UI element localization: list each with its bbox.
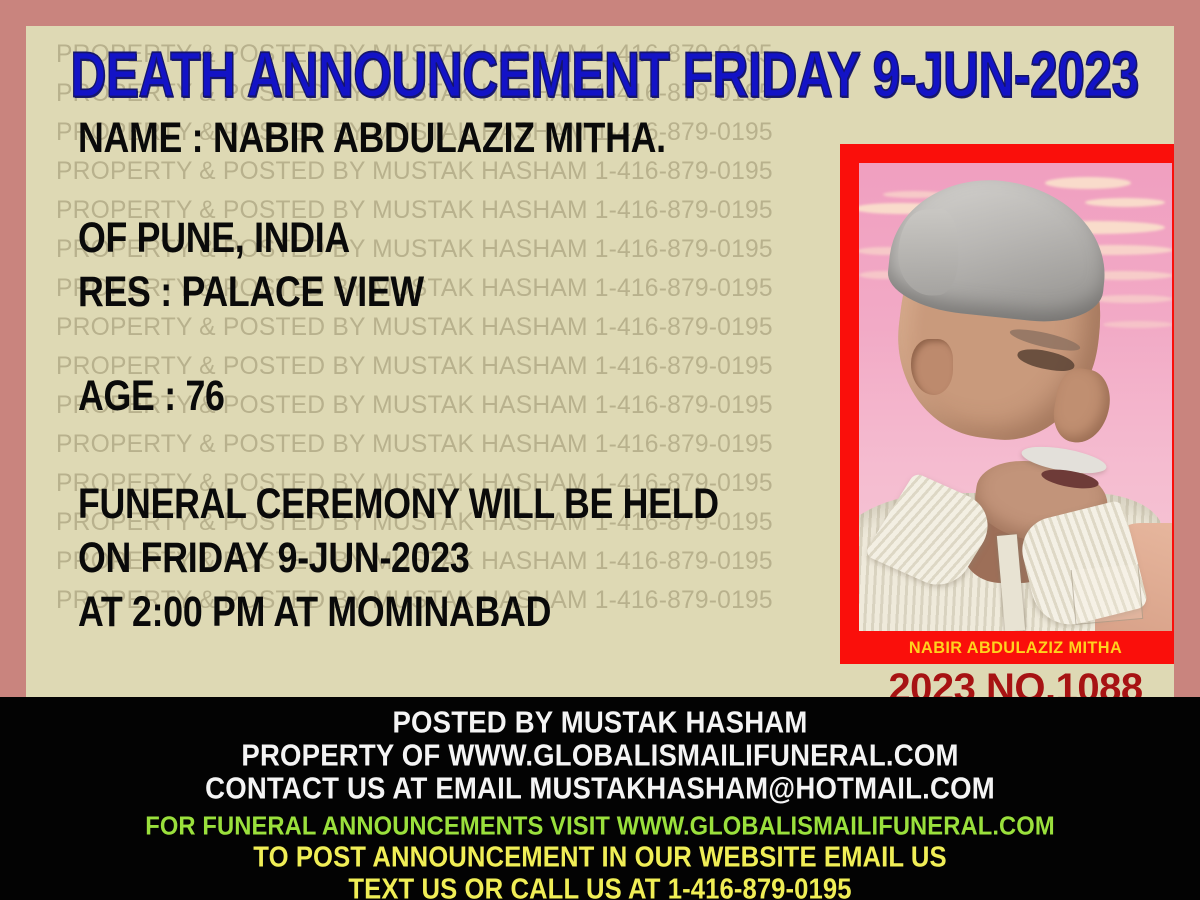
footer-property-of: PROPERTY OF WWW.GLOBALISMAILIFUNERAL.COM <box>30 739 1170 774</box>
detail-name: NAME : NABIR ABDULAZIZ MITHA. <box>78 114 792 163</box>
ear <box>911 339 953 395</box>
footer-call-us: TEXT US OR CALL US AT 1-416-879-0195 <box>30 872 1170 900</box>
cloud-icon <box>1045 177 1131 189</box>
spacer <box>78 158 838 214</box>
details-block: NAME : NABIR ABDULAZIZ MITHA. OF PUNE, I… <box>78 114 838 632</box>
portrait-caption: NABIR ABDULAZIZ MITHA <box>847 638 1174 658</box>
ceremony-line-1: FUNERAL CEREMONY WILL BE HELD <box>78 480 792 529</box>
cloud-icon <box>1091 295 1172 303</box>
death-announcement-poster: PROPERTY & POSTED BY MUSTAK HASHAM 1-416… <box>0 0 1200 900</box>
ceremony-line-3: AT 2:00 PM AT MOMINABAD <box>78 588 792 637</box>
spacer <box>78 312 838 372</box>
footer-posted-by: POSTED BY MUSTAK HASHAM <box>30 706 1170 741</box>
ceremony-line-2: ON FRIDAY 9-JUN-2023 <box>78 534 792 583</box>
cloud-icon <box>1085 198 1165 207</box>
announcement-card: PROPERTY & POSTED BY MUSTAK HASHAM 1-416… <box>26 26 1174 697</box>
page-title: DEATH ANNOUNCEMENT FRIDAY 9-JUN-2023 <box>70 40 1091 111</box>
shirt-pocket <box>1071 564 1144 625</box>
detail-age: AGE : 76 <box>78 372 792 421</box>
portrait-photo <box>859 163 1172 631</box>
detail-origin: OF PUNE, INDIA <box>78 214 792 263</box>
footer-contact: CONTACT US AT EMAIL MUSTAKHASHAM@HOTMAIL… <box>30 772 1170 807</box>
footer-bar: POSTED BY MUSTAK HASHAM PROPERTY OF WWW.… <box>0 697 1200 900</box>
detail-residence: RES : PALACE VIEW <box>78 268 792 317</box>
cloud-icon <box>1103 321 1172 328</box>
portrait-frame: NABIR ABDULAZIZ MITHA <box>840 144 1174 664</box>
announcement-serial-number: 2023 NO.1088 <box>840 664 1174 697</box>
spacer <box>78 416 838 480</box>
footer-post-email: TO POST ANNOUNCEMENT IN OUR WEBSITE EMAI… <box>30 840 1170 874</box>
footer-visit-site: FOR FUNERAL ANNOUNCEMENTS VISIT WWW.GLOB… <box>30 810 1170 842</box>
